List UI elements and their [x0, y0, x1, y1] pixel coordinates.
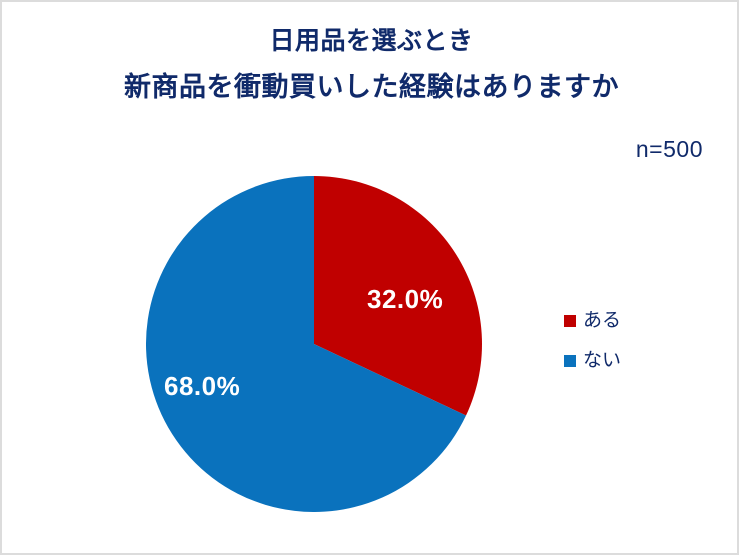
pie-chart: 32.0% 68.0%	[146, 176, 482, 512]
legend-swatch-icon-aru	[564, 315, 576, 327]
pie-chart-svg	[146, 176, 482, 512]
legend-label-aru: ある	[583, 310, 621, 332]
chart-legend: ある ない	[564, 310, 714, 390]
legend-item-nai[interactable]: ない	[564, 350, 714, 372]
chart-title-line-2: 新商品を衝動買いした経験はありますか	[2, 68, 739, 106]
pie-slice-label-nai: 68.0%	[164, 371, 240, 402]
pie-slice-label-aru: 32.0%	[367, 284, 443, 315]
sample-size-annotation: n=500	[636, 136, 703, 163]
chart-title-line-1: 日用品を選ぶとき	[2, 24, 739, 58]
legend-label-nai: ない	[583, 350, 621, 372]
legend-item-aru[interactable]: ある	[564, 310, 714, 332]
legend-swatch-icon-nai	[564, 355, 576, 367]
chart-title: 日用品を選ぶとき 新商品を衝動買いした経験はありますか	[2, 24, 739, 106]
chart-canvas: 日用品を選ぶとき 新商品を衝動買いした経験はありますか n=500 32.0% …	[0, 0, 739, 555]
